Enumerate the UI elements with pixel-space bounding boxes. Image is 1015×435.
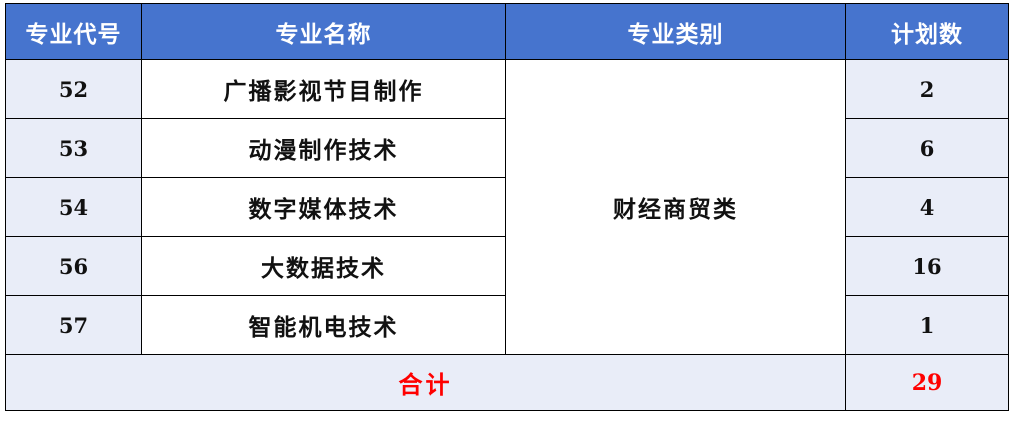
total-value: 29 bbox=[846, 355, 1009, 411]
cell-code: 52 bbox=[6, 60, 142, 119]
table-total-row: 合计 29 bbox=[6, 355, 1009, 411]
column-header-plan: 计划数 bbox=[846, 4, 1009, 60]
cell-plan-count: 4 bbox=[846, 178, 1009, 237]
cell-major-category-merged: 财经商贸类 bbox=[506, 60, 846, 355]
cell-plan-count: 2 bbox=[846, 60, 1009, 119]
column-header-name: 专业名称 bbox=[142, 4, 506, 60]
cell-code: 57 bbox=[6, 296, 142, 355]
cell-major-name: 动漫制作技术 bbox=[142, 119, 506, 178]
table-header-row: 专业代号 专业名称 专业类别 计划数 bbox=[6, 4, 1009, 60]
cell-major-name: 广播影视节目制作 bbox=[142, 60, 506, 119]
table-row: 52 广播影视节目制作 财经商贸类 2 bbox=[6, 60, 1009, 119]
cell-plan-count: 6 bbox=[846, 119, 1009, 178]
cell-major-name: 数字媒体技术 bbox=[142, 178, 506, 237]
column-header-code: 专业代号 bbox=[6, 4, 142, 60]
table-body: 52 广播影视节目制作 财经商贸类 2 53 动漫制作技术 6 54 数字媒体技… bbox=[6, 60, 1009, 411]
column-header-category: 专业类别 bbox=[506, 4, 846, 60]
enrollment-plan-table-container: 专业代号 专业名称 专业类别 计划数 52 广播影视节目制作 财经商贸类 2 5… bbox=[5, 3, 1008, 411]
cell-code: 53 bbox=[6, 119, 142, 178]
cell-major-name: 智能机电技术 bbox=[142, 296, 506, 355]
total-label: 合计 bbox=[6, 355, 846, 411]
enrollment-plan-table: 专业代号 专业名称 专业类别 计划数 52 广播影视节目制作 财经商贸类 2 5… bbox=[5, 3, 1009, 411]
cell-code: 56 bbox=[6, 237, 142, 296]
cell-code: 54 bbox=[6, 178, 142, 237]
cell-plan-count: 1 bbox=[846, 296, 1009, 355]
cell-major-name: 大数据技术 bbox=[142, 237, 506, 296]
cell-plan-count: 16 bbox=[846, 237, 1009, 296]
table-header: 专业代号 专业名称 专业类别 计划数 bbox=[6, 4, 1009, 60]
